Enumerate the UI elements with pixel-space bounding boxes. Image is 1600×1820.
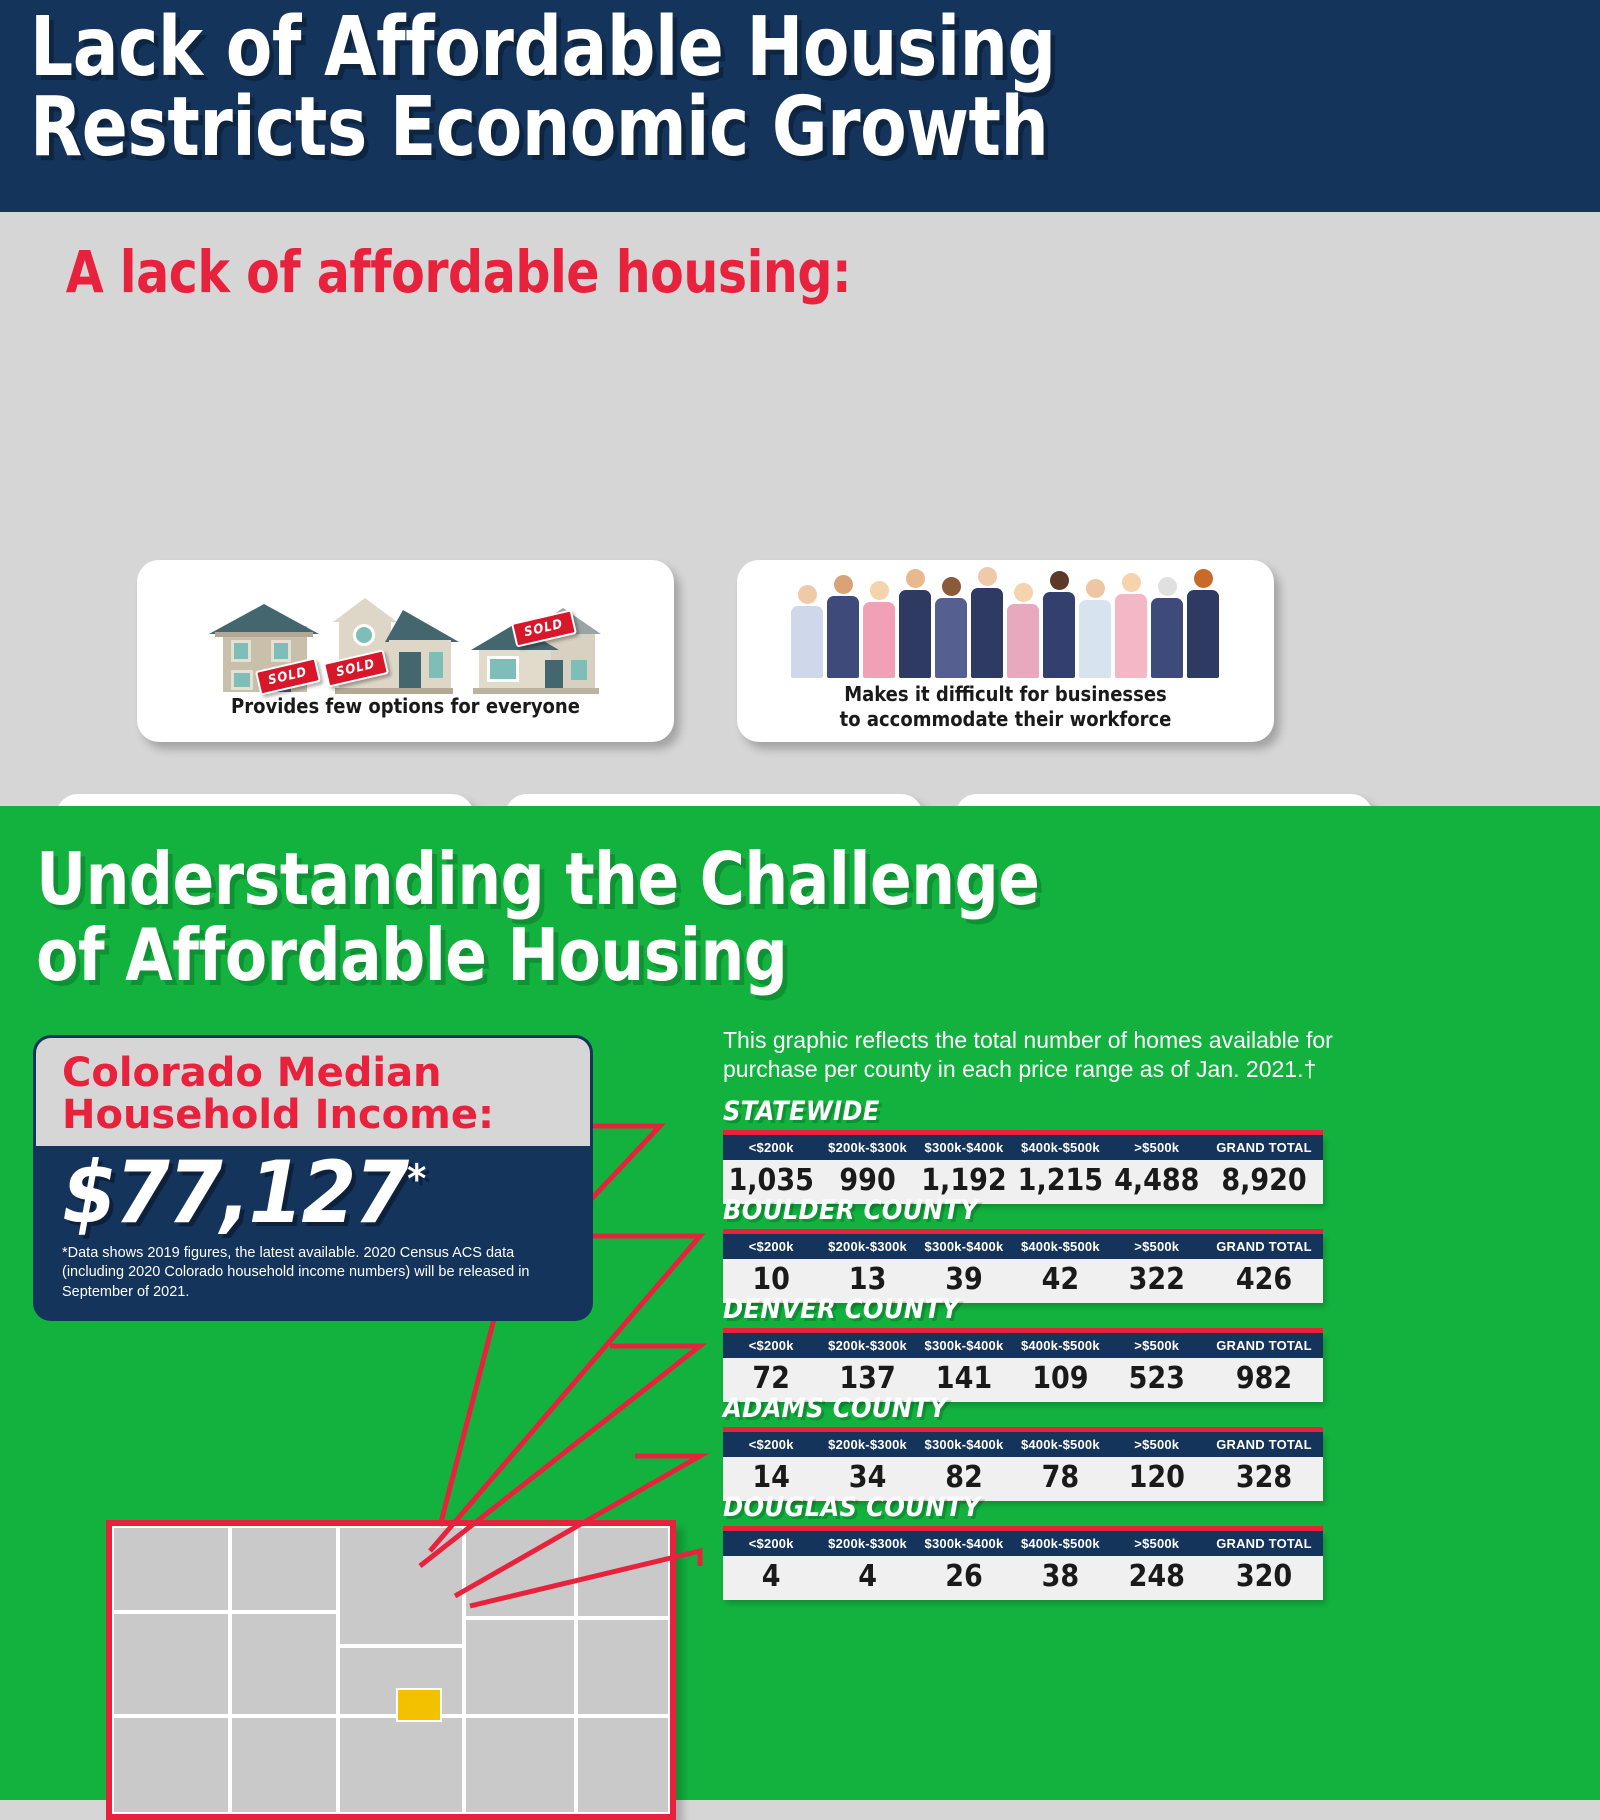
col-header: $300k-$400k — [916, 1531, 1012, 1556]
page-title-line1: Lack of Affordable Housing — [30, 8, 1447, 88]
col-header: $400k-$500k — [1012, 1135, 1108, 1160]
price-range-table: <$200k $200k-$300k $300k-$400k $400k-$50… — [723, 1432, 1323, 1501]
col-header: <$200k — [723, 1432, 819, 1457]
house-icon-a: SOLD — [209, 590, 319, 694]
map-county[interactable] — [576, 1618, 670, 1716]
challenge-section-title: Understanding the Challenge of Affordabl… — [0, 806, 1520, 993]
col-header: GRAND TOTAL — [1205, 1135, 1323, 1160]
person — [863, 581, 897, 678]
col-header: $200k-$300k — [819, 1135, 915, 1160]
person — [791, 585, 825, 678]
footnote-marker: * — [407, 1156, 424, 1202]
col-header: GRAND TOTAL — [1205, 1333, 1323, 1358]
col-header: >$500k — [1109, 1234, 1205, 1259]
person — [899, 569, 933, 678]
map-county[interactable] — [112, 1612, 230, 1716]
col-header: $300k-$400k — [916, 1135, 1012, 1160]
cell-value: 38 — [1012, 1556, 1108, 1600]
price-range-table: <$200k $200k-$300k $300k-$400k $400k-$50… — [723, 1234, 1323, 1303]
col-header: GRAND TOTAL — [1205, 1531, 1323, 1556]
map-county-highlight[interactable] — [396, 1688, 442, 1722]
map-county[interactable] — [338, 1716, 464, 1814]
person — [1151, 577, 1185, 678]
median-income-value: $77,127* — [62, 1150, 578, 1236]
card-businesses-workforce: Makes it difficult for businesses to acc… — [737, 560, 1274, 742]
house-icon-c: SOLD — [471, 590, 603, 694]
median-income-footnote: *Data shows 2019 figures, the latest ava… — [62, 1244, 532, 1302]
price-range-table: <$200k $200k-$300k $300k-$400k $400k-$50… — [723, 1135, 1323, 1204]
price-range-table: <$200k $200k-$300k $300k-$400k $400k-$50… — [723, 1531, 1323, 1600]
cell-value: 4 — [723, 1556, 819, 1600]
col-header: >$500k — [1109, 1432, 1205, 1457]
house-icon-b: SOLD — [333, 590, 457, 694]
col-header: <$200k — [723, 1531, 819, 1556]
cell-value: 26 — [916, 1556, 1012, 1600]
col-header: GRAND TOTAL — [1205, 1234, 1323, 1259]
person — [1187, 569, 1221, 678]
map-county[interactable] — [112, 1716, 230, 1814]
table-block-boulder: BOULDER COUNTY <$200k $200k-$300k $300k-… — [723, 1195, 1323, 1303]
table-title: DOUGLAS COUNTY — [723, 1492, 1323, 1523]
col-header: >$500k — [1109, 1135, 1205, 1160]
col-header: $200k-$300k — [819, 1531, 915, 1556]
cell-value: 248 — [1109, 1556, 1205, 1600]
table-block-adams: ADAMS COUNTY <$200k $200k-$300k $300k-$4… — [723, 1393, 1323, 1501]
table-header-row: <$200k $200k-$300k $300k-$400k $400k-$50… — [723, 1135, 1323, 1160]
table-block-douglas: DOUGLAS COUNTY <$200k $200k-$300k $300k-… — [723, 1492, 1323, 1600]
table-header-row: <$200k $200k-$300k $300k-$400k $400k-$50… — [723, 1333, 1323, 1358]
table-title: BOULDER COUNTY — [723, 1195, 1323, 1226]
table-title: STATEWIDE — [723, 1096, 1323, 1127]
col-header: >$500k — [1109, 1333, 1205, 1358]
col-header: <$200k — [723, 1135, 819, 1160]
table-row: 4 4 26 38 248 320 — [723, 1556, 1323, 1600]
median-income-label: Colorado Median Household Income: — [62, 1052, 568, 1136]
tables-intro-text: This graphic reflects the total number o… — [723, 1026, 1343, 1085]
map-county[interactable] — [464, 1716, 576, 1814]
sold-houses-icon: SOLD SOLD — [209, 584, 603, 694]
col-header: $400k-$500k — [1012, 1531, 1108, 1556]
map-county[interactable] — [464, 1618, 576, 1716]
col-header: $400k-$500k — [1012, 1432, 1108, 1457]
table-title: ADAMS COUNTY — [723, 1393, 1323, 1424]
table-header-row: <$200k $200k-$300k $300k-$400k $400k-$50… — [723, 1234, 1323, 1259]
table-block-statewide: STATEWIDE <$200k $200k-$300k $300k-$400k… — [723, 1096, 1323, 1204]
map-county[interactable] — [464, 1526, 576, 1618]
card-caption: Provides few options for everyone — [231, 694, 580, 719]
card-provides-few-options: SOLD SOLD — [137, 560, 674, 742]
person — [827, 575, 861, 678]
map-county[interactable] — [576, 1526, 670, 1618]
map-county[interactable] — [230, 1612, 338, 1716]
impacts-section: A lack of affordable housing: SOLD — [0, 212, 1600, 806]
col-header: $400k-$500k — [1012, 1234, 1108, 1259]
workforce-people-icon — [791, 570, 1221, 678]
col-header: $200k-$300k — [819, 1333, 915, 1358]
col-header: $300k-$400k — [916, 1234, 1012, 1259]
col-header: <$200k — [723, 1333, 819, 1358]
map-county[interactable] — [338, 1526, 464, 1646]
median-income-value-panel: $77,127* *Data shows 2019 figures, the l… — [33, 1146, 593, 1321]
person — [1007, 583, 1041, 678]
map-county[interactable] — [576, 1716, 670, 1814]
map-county[interactable] — [230, 1526, 338, 1612]
table-header-row: <$200k $200k-$300k $300k-$400k $400k-$50… — [723, 1432, 1323, 1457]
page-header: Lack of Affordable Housing Restricts Eco… — [0, 0, 1600, 212]
colorado-county-map[interactable] — [106, 1520, 676, 1820]
page-title-line2: Restricts Economic Growth — [30, 88, 1447, 168]
person — [1043, 571, 1077, 678]
person — [1079, 579, 1113, 678]
median-income-card: Colorado Median Household Income: $77,12… — [33, 1035, 593, 1305]
table-header-row: <$200k $200k-$300k $300k-$400k $400k-$50… — [723, 1531, 1323, 1556]
median-income-label-panel: Colorado Median Household Income: — [33, 1035, 593, 1146]
col-header: $400k-$500k — [1012, 1333, 1108, 1358]
card-caption: Makes it difficult for businesses to acc… — [840, 682, 1172, 732]
table-title: DENVER COUNTY — [723, 1294, 1323, 1325]
person — [1115, 573, 1149, 678]
col-header: $300k-$400k — [916, 1432, 1012, 1457]
col-header: GRAND TOTAL — [1205, 1432, 1323, 1457]
table-block-denver: DENVER COUNTY <$200k $200k-$300k $300k-$… — [723, 1294, 1323, 1402]
person — [935, 577, 969, 678]
person — [971, 567, 1005, 678]
cell-value: 320 — [1205, 1556, 1323, 1600]
col-header: >$500k — [1109, 1531, 1205, 1556]
col-header: <$200k — [723, 1234, 819, 1259]
map-county[interactable] — [112, 1526, 230, 1612]
impacts-section-title: A lack of affordable housing: — [30, 212, 1478, 306]
col-header: $300k-$400k — [916, 1333, 1012, 1358]
price-range-table: <$200k $200k-$300k $300k-$400k $400k-$50… — [723, 1333, 1323, 1402]
map-county[interactable] — [230, 1716, 338, 1814]
col-header: $200k-$300k — [819, 1234, 915, 1259]
col-header: $200k-$300k — [819, 1432, 915, 1457]
cell-value: 4 — [819, 1556, 915, 1600]
